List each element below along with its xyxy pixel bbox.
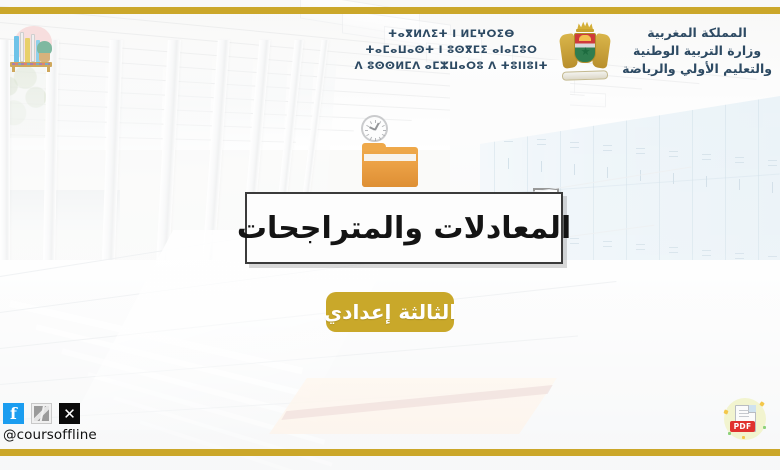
clock-tick (378, 137, 380, 140)
locker-vent (603, 145, 612, 146)
wall-clock-icon (361, 115, 388, 142)
clock-ticks (365, 119, 384, 138)
social-icon-row: f ✕ (3, 403, 97, 424)
document-lines (739, 410, 749, 419)
locker-handle (574, 164, 575, 175)
locker-vent (603, 246, 612, 247)
clock-tick (383, 130, 386, 131)
locker-vent (603, 150, 612, 151)
page-fold (748, 405, 756, 413)
book (25, 38, 30, 62)
confetti (728, 432, 731, 435)
locker-vent (702, 250, 711, 251)
pdf-label: PDF (730, 421, 755, 432)
gold-rule-bottom (0, 449, 780, 456)
ministry-tifinagh-line-3: ⴷ ⵓⵙⵙⵍⵎⴷ ⴰⵎⵣⵡⴰⵔⵓ ⴷ ⵜⵓⵏⵏⵓⵏⵜ (355, 59, 549, 75)
locker-vent (735, 162, 744, 163)
pdf-badge[interactable]: PDF (722, 396, 768, 442)
locker-vent (702, 154, 711, 155)
clock-tick (381, 134, 384, 136)
locker-handle (541, 161, 542, 172)
locker-vent (768, 160, 777, 161)
clock-tick (366, 134, 369, 136)
locker-vent (636, 153, 645, 154)
clock-tick (369, 121, 371, 124)
ministry-header: المملكة المغربية وزارة التربية الوطنية و… (355, 18, 772, 84)
confetti (742, 436, 745, 439)
locker-vent (702, 255, 711, 256)
ministry-tifinagh-line-1: ⵜⴰⴳⵍⴷⵉⵜ ⵏ ⵍⵎⵖⵔⵉⴱ (355, 27, 549, 43)
clock-tick (366, 125, 369, 127)
ministry-arabic-line-3: والتعليم الأولي والرياضة (622, 60, 772, 78)
book (14, 36, 19, 62)
plant-pot (39, 53, 50, 62)
lesson-title-box: المعادلات والمتراجحات (245, 192, 563, 264)
folder-paper (364, 154, 416, 161)
shelf-leg (12, 67, 15, 72)
ministry-arabic-line-2: وزارة التربية الوطنية (622, 42, 772, 60)
locker-vent (537, 139, 546, 140)
locker-vent (570, 238, 579, 239)
locker-vent (669, 156, 678, 157)
ministry-arabic-text: المملكة المغربية وزارة التربية الوطنية و… (622, 24, 772, 77)
book (20, 32, 24, 62)
confetti (763, 426, 766, 429)
clock-tick (381, 125, 384, 127)
locker-vent (669, 247, 678, 248)
folder-front (362, 161, 418, 187)
locker-handle (739, 179, 740, 190)
locker-vent (636, 244, 645, 245)
locker-vent (735, 253, 744, 254)
motto-ribbon (562, 70, 608, 81)
locker-vent (669, 252, 678, 253)
level-badge: الثالثة إعدادي (326, 292, 454, 332)
social-footer: f ✕ @coursoffline (3, 403, 97, 443)
locker-vent (570, 142, 579, 143)
broken-image-icon[interactable] (31, 403, 52, 424)
clock-tick (365, 130, 368, 131)
slide-canvas: المملكة المغربية وزارة التربية الوطنية و… (0, 0, 780, 470)
shelf-board (10, 62, 52, 67)
atlas-sun (579, 35, 591, 41)
gold-rule-top (0, 7, 780, 14)
folder-icon (362, 143, 418, 187)
locker-handle (508, 158, 509, 169)
locker-vent (768, 256, 777, 257)
clock-tick (375, 120, 376, 123)
locker-handle (673, 173, 674, 184)
level-badge-label: الثالثة إعدادي (324, 300, 456, 324)
clock-tick (369, 137, 371, 140)
bookshelf-icon (6, 24, 58, 76)
shelf-leg (47, 67, 50, 72)
locker-vent (735, 258, 744, 259)
locker-vent (570, 243, 579, 244)
locker-vent (735, 157, 744, 158)
facebook-icon[interactable]: f (3, 403, 24, 424)
coat-of-arms-icon: ★ (558, 18, 612, 84)
pentagram: ★ (580, 46, 591, 57)
locker-handle (607, 167, 608, 178)
locker-vent (768, 165, 777, 166)
locker-vent (570, 147, 579, 148)
locker-vent (537, 144, 546, 145)
locker-handle (772, 182, 773, 193)
clock-tick (375, 138, 376, 141)
locker-vent (504, 141, 513, 142)
locker-vent (603, 241, 612, 242)
ministry-tifinagh-line-2: ⵜⴰⵎⴰⵡⴰⵙⵜ ⵏ ⵓⵙⴳⵎⵉ ⴰⵏⴰⵎⵓⵔ (355, 43, 549, 59)
x-twitter-icon[interactable]: ✕ (59, 403, 80, 424)
locker-vent (636, 148, 645, 149)
locker-vent (636, 249, 645, 250)
book (31, 34, 35, 62)
clock-tick (378, 121, 380, 124)
crown-band (576, 29, 594, 32)
locker-vent (669, 151, 678, 152)
social-handle: @coursoffline (3, 427, 97, 443)
locker-vent (702, 159, 711, 160)
ministry-tifinagh-text: ⵜⴰⴳⵍⴷⵉⵜ ⵏ ⵍⵎⵖⵔⵉⴱ ⵜⴰⵎⴰⵡⴰⵙⵜ ⵏ ⵓⵙⴳⵎⵉ ⴰⵏⴰⵎⵓⵔ… (355, 27, 549, 74)
ministry-arabic-line-1: المملكة المغربية (622, 24, 772, 42)
folder-tab (362, 143, 386, 151)
page-title: المعادلات والمتراجحات (237, 211, 571, 246)
